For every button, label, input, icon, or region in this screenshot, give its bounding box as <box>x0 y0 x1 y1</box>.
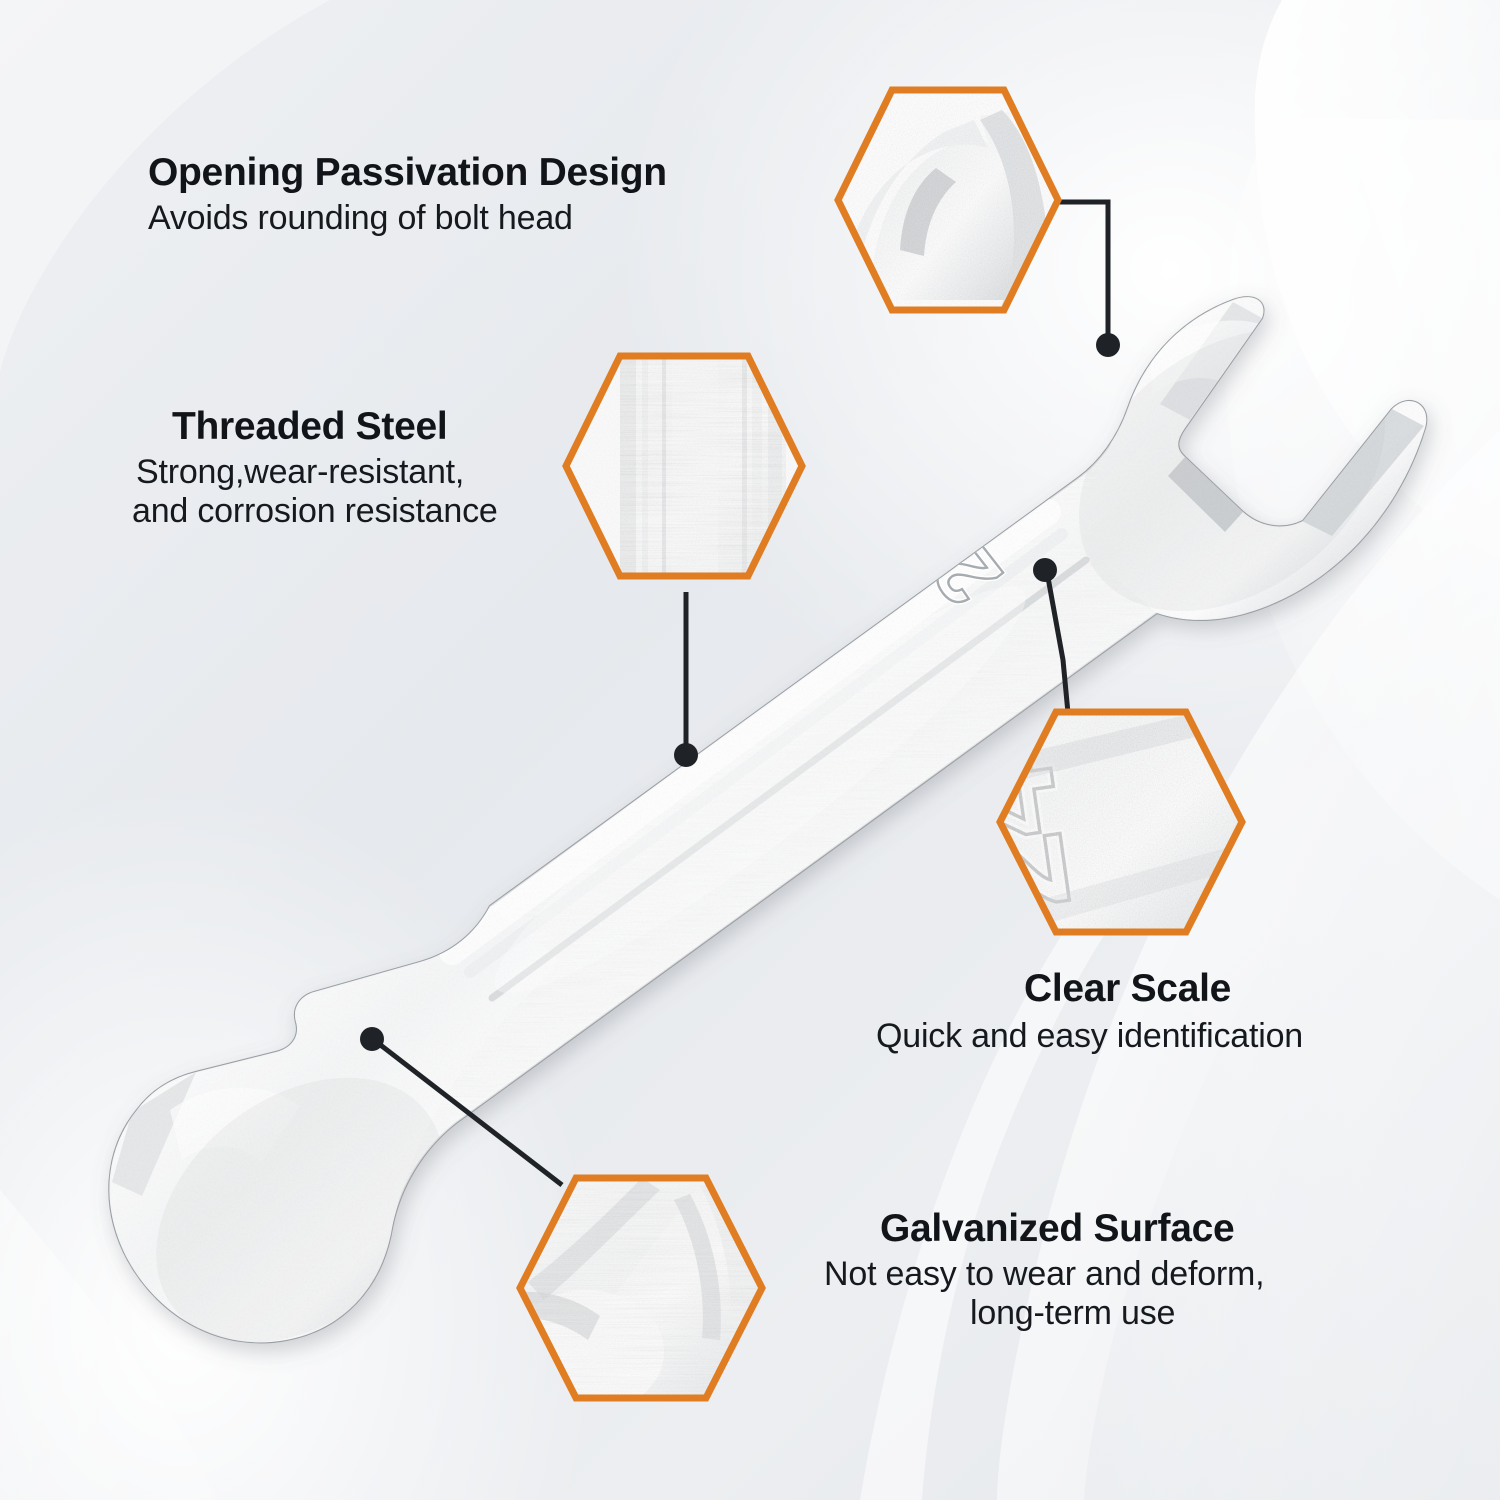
callout-subtitle-threaded-steel-line2: and corrosion resistance <box>132 492 498 531</box>
hexagon-galvanized-surface <box>508 1174 766 1414</box>
callout-subtitle-galvanized-surface-line1: Not easy to wear and deform, <box>824 1255 1264 1294</box>
hexagon-opening-passivation <box>838 86 1062 326</box>
infographic-stage: 24 24 22 22 <box>0 0 1500 1500</box>
callout-subtitle-threaded-steel-line1: Strong,wear-resistant, <box>136 453 498 492</box>
hexagon-threaded-steel <box>560 352 808 580</box>
callout-title-threaded-steel: Threaded Steel <box>172 406 498 447</box>
callout-subtitle-galvanized-surface-line2: long-term use <box>970 1294 1264 1333</box>
callout-text-threaded-steel: Threaded Steel Strong,wear-resistant, an… <box>168 406 498 531</box>
callout-subtitle-opening-passivation: Avoids rounding of bolt head <box>148 199 667 238</box>
callout-title-galvanized-surface: Galvanized Surface <box>880 1208 1264 1249</box>
callout-text-clear-scale: Clear Scale Quick and easy identificatio… <box>1022 968 1303 1056</box>
callout-title-clear-scale: Clear Scale <box>1024 968 1303 1009</box>
callout-text-opening-passivation: Opening Passivation Design Avoids roundi… <box>148 152 667 238</box>
callout-subtitle-clear-scale: Quick and easy identification <box>876 1017 1303 1056</box>
callout-title-opening-passivation: Opening Passivation Design <box>148 152 667 193</box>
callout-text-galvanized-surface: Galvanized Surface Not easy to wear and … <box>880 1208 1264 1333</box>
hexagon-clear-scale: 24 24 <box>923 700 1248 938</box>
